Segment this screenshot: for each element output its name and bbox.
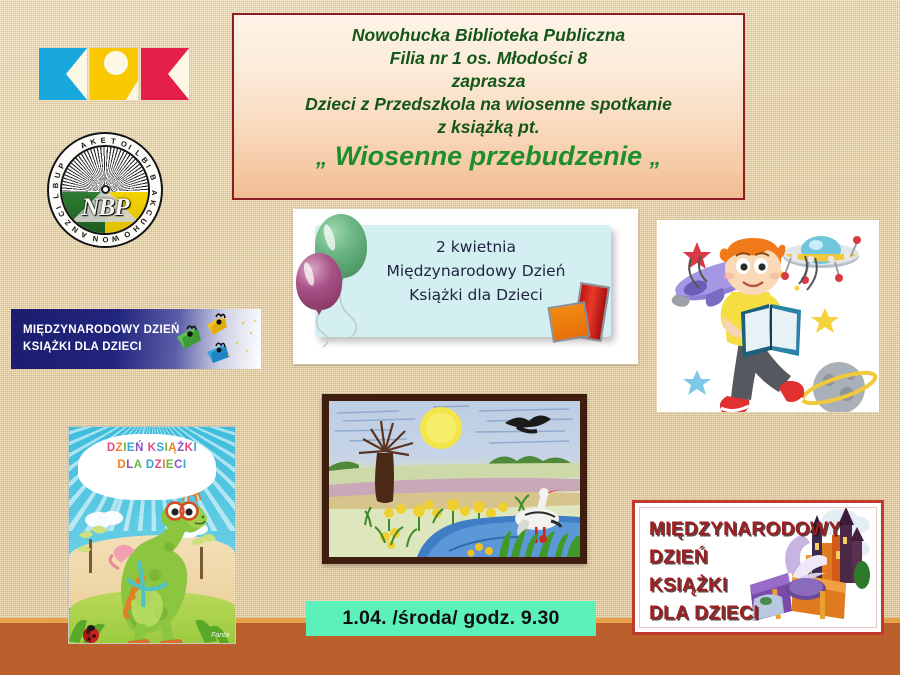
seal-center-dot <box>101 185 110 194</box>
dinosaur-book-cover: DZIEŃ KSIĄŻKI DLA DZIECI Fanta <box>68 426 236 644</box>
flying-books-icon <box>11 309 261 369</box>
krk-letter-r-yellow <box>90 48 138 100</box>
invitation-book-title: Wiosenne przebudzenie <box>335 141 642 171</box>
purple-balloon-icon <box>296 253 342 310</box>
red-sign-line-3: KSIĄŻKI <box>649 572 841 600</box>
balloon-banner-line-2: Międzynarodowy Dzień <box>341 259 611 283</box>
balloon-mdkd-banner: 2 kwietnia Międzynarodowy Dzień Książki … <box>293 209 638 364</box>
krk-letter-k-cyan <box>39 48 87 100</box>
invitation-line-3: zaprasza <box>242 70 735 93</box>
poster-canvas: P U B L I C Z N A N O W O H U C K A B I … <box>0 0 900 675</box>
spaceboy-illustration <box>657 220 879 412</box>
red-sign-text: MIĘDZYNARODOWY DZIEŃ KSIĄŻKI DLA DZIECI <box>649 516 841 628</box>
quote-open: „ <box>316 144 328 170</box>
krk-letter-k-red <box>141 48 189 100</box>
book-cover-title-line-1: DZIEŃ KSIĄŻKI <box>69 440 235 457</box>
balloon-banner-line-1: 2 kwietnia <box>341 235 611 259</box>
seal-inner-circle: NBP <box>60 145 150 235</box>
book-cover-title-line-2: DLA DZIECI <box>69 457 235 474</box>
spring-landscape-drawing-icon <box>329 401 580 557</box>
child-drawing-frame <box>322 394 587 564</box>
quote-close: „ <box>650 144 662 170</box>
red-sign-inner: MIĘDZYNARODOWY DZIEŃ KSIĄŻKI DLA DZIECI <box>639 507 877 628</box>
invitation-line-4: Dzieci z Przedszkola na wiosenne spotkan… <box>242 93 735 116</box>
child-drawing-image <box>329 401 580 557</box>
balloon-highlight <box>321 223 337 251</box>
red-sign-line-4: DLA DZIECI <box>649 600 841 628</box>
books-icon <box>546 282 624 354</box>
krk-logo <box>39 48 189 100</box>
invitation-line-5: z książką pt. <box>242 116 735 139</box>
book-cover-title: DZIEŃ KSIĄŻKI DLA DZIECI <box>69 440 235 474</box>
seal-monogram: NBP <box>62 194 148 222</box>
event-date-box: 1.04. /środa/ godz. 9.30 <box>306 601 596 636</box>
boy-reading-in-space-icon <box>657 220 879 412</box>
invitation-line-1: Nowohucka Biblioteka Publiczna <box>242 24 735 47</box>
invitation-line-2: Filia nr 1 os. Młodości 8 <box>242 47 735 70</box>
red-mdkd-sign: MIĘDZYNARODOWY DZIEŃ KSIĄŻKI DLA DZIECI <box>632 500 884 635</box>
event-date-text: 1.04. /środa/ godz. 9.30 <box>342 607 559 630</box>
book-publisher-mark: Fanta <box>211 632 229 639</box>
red-sign-line-1: MIĘDZYNARODOWY <box>649 516 841 544</box>
library-seal-logo: P U B L I C Z N A N O W O H U C K A B I … <box>47 132 163 248</box>
balloon-highlight <box>302 261 316 286</box>
invitation-text-box: Nowohucka Biblioteka Publiczna Filia nr … <box>232 13 745 200</box>
red-sign-line-2: DZIEŃ <box>649 544 841 572</box>
blue-mdkd-banner: MIĘDZYNARODOWY DZIEŃ KSIĄŻKI DLA DZIECI <box>11 309 261 369</box>
invitation-book-title-row: „ Wiosenne przebudzenie „ <box>242 140 735 174</box>
orange-book-icon <box>547 301 590 343</box>
